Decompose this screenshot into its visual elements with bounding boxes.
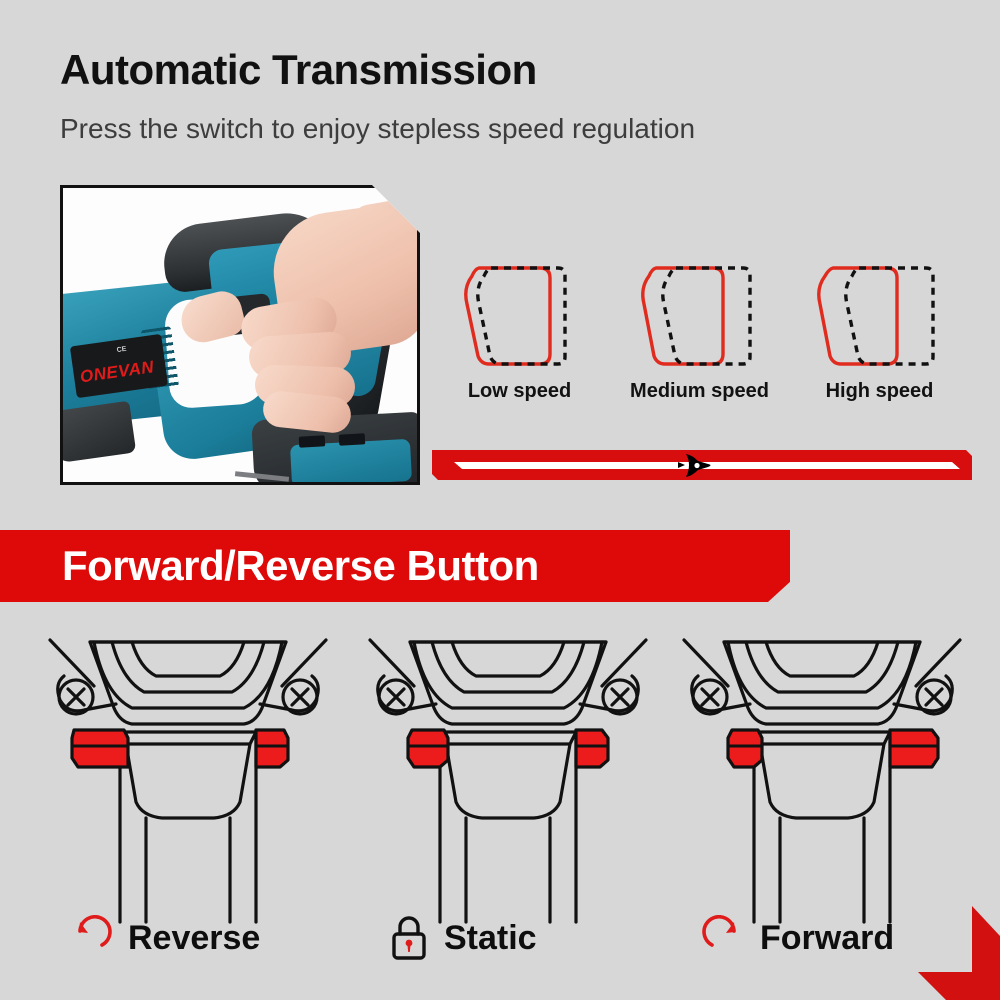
product-photo: CE ONEVAN [60, 185, 420, 485]
button-diagram-reverse [28, 612, 348, 932]
rotate-counterclockwise-icon [68, 915, 114, 961]
saw-rear-grip [63, 401, 136, 464]
tool-top-view-icon [662, 612, 982, 932]
trigger-outline-icon [805, 258, 955, 376]
padlock-icon [388, 914, 430, 962]
speed-item-medium: Medium speed [612, 258, 787, 418]
state-reverse: Reverse [68, 908, 260, 968]
banner-title: Forward/Reverse Button [62, 542, 539, 590]
tool-top-view-icon [28, 612, 348, 932]
speed-item-low: Low speed [432, 258, 607, 418]
ce-mark: CE [116, 346, 127, 354]
corner-arrow-icon [912, 900, 1000, 1000]
state-label: Reverse [128, 919, 260, 958]
speed-item-high: High speed [792, 258, 967, 418]
speed-slider[interactable] [432, 444, 972, 486]
battery-slot [299, 435, 326, 447]
page-subtitle: Press the switch to enjoy stepless speed… [60, 113, 695, 145]
infographic-page: Automatic Transmission Press the switch … [0, 0, 1000, 1000]
static-button-right [576, 730, 608, 767]
forward-button-left [728, 730, 762, 767]
product-photo-image: CE ONEVAN [63, 188, 417, 482]
speed-label: Low speed [432, 380, 607, 403]
button-diagram-static [348, 612, 668, 932]
forward-button-right [890, 730, 938, 767]
reverse-button-right [256, 730, 288, 767]
button-diagram-row [0, 612, 1000, 932]
battery-slot [339, 433, 366, 445]
tool-top-view-icon [348, 612, 668, 932]
reverse-button-left [72, 730, 128, 767]
trigger-outline-icon [625, 258, 775, 376]
slider-bar[interactable] [432, 444, 972, 486]
speed-label: High speed [792, 380, 967, 403]
button-diagram-forward [662, 612, 982, 932]
page-title: Automatic Transmission [60, 46, 537, 94]
speed-label: Medium speed [612, 380, 787, 403]
brand-logo-text: ONEVAN [79, 357, 156, 387]
rotate-clockwise-icon [700, 915, 746, 961]
section-banner: Forward/Reverse Button [0, 530, 790, 602]
trigger-outline-icon [445, 258, 595, 376]
state-static: Static [388, 908, 537, 968]
static-button-left [408, 730, 448, 767]
state-forward: Forward [700, 908, 894, 968]
speed-diagram-row: Low speed Medium speed High speed [432, 258, 972, 418]
button-state-labels: Reverse Static Forward [0, 908, 1000, 978]
state-label: Forward [760, 919, 894, 958]
state-label: Static [444, 919, 537, 958]
